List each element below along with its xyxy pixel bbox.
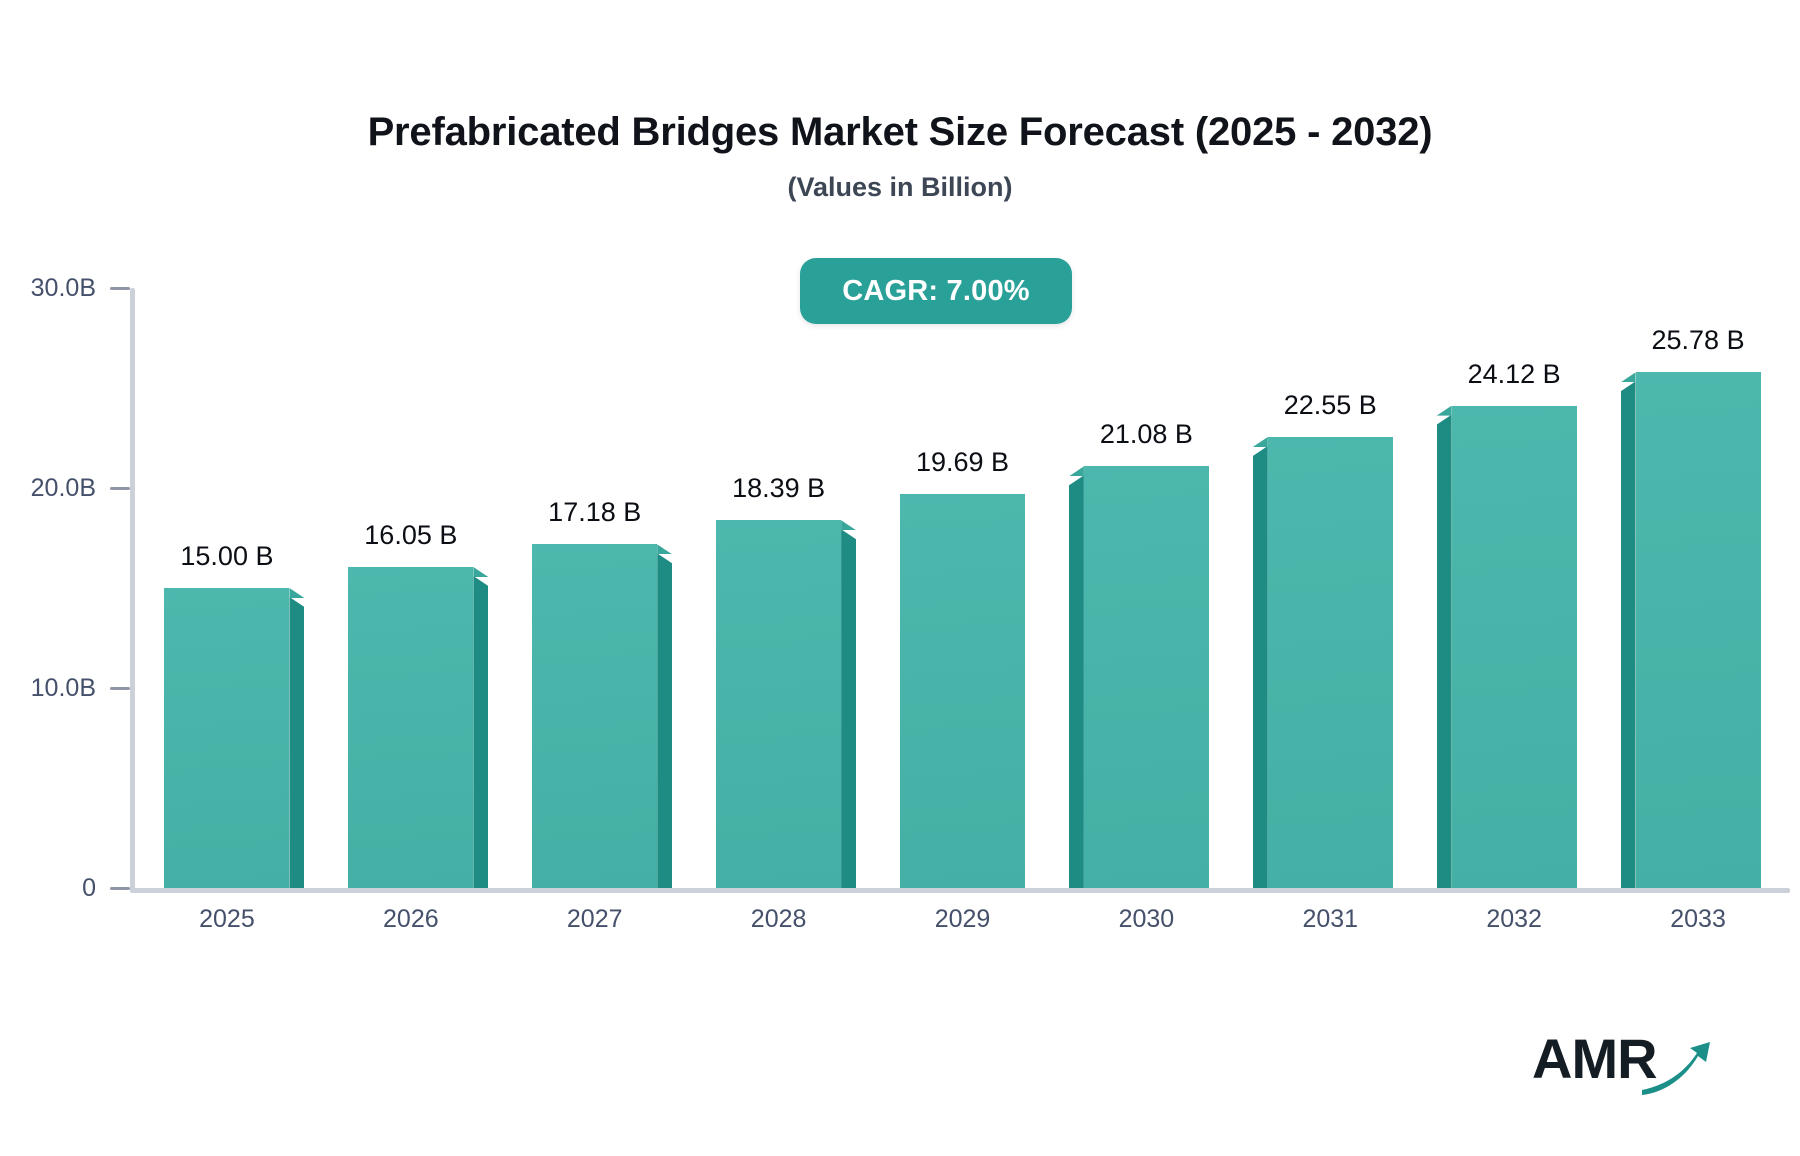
bar-top-face [1437,406,1452,416]
x-axis-label-2026: 2026 [383,905,439,934]
bar-2030[interactable] [1084,466,1209,888]
bar-top-face [657,544,672,554]
trend-up-arrow-icon [1640,1040,1718,1100]
bar-2033[interactable] [1636,372,1761,888]
bar-2028[interactable] [716,520,841,888]
x-axis-line [130,888,1790,893]
bar-value-label: 16.05 B [364,520,457,551]
bar-slot: 19.69 B [900,288,1025,888]
bar-top-face [1069,466,1084,476]
bar-2026[interactable] [348,567,473,888]
bar-value-label: 24.12 B [1468,359,1561,390]
chart-subtitle: (Values in Billion) [0,172,1800,203]
bar-depth-face [1253,446,1268,888]
bar-top-face [841,520,856,530]
x-axis-label-2031: 2031 [1302,905,1358,934]
x-axis-label-2028: 2028 [751,905,807,934]
y-axis-tick-mark [110,487,130,490]
bar-2027[interactable] [532,544,657,888]
y-axis-tick-label: 30.0B [31,274,96,303]
y-axis-tick-label: 0 [82,874,96,903]
y-axis-tick-mark [110,687,130,690]
bar-value-label: 25.78 B [1652,325,1745,356]
bar-value-label: 17.18 B [548,497,641,528]
bar-2029[interactable] [900,494,1025,888]
x-axis-label-2032: 2032 [1486,905,1542,934]
x-axis-label-2025: 2025 [199,905,255,934]
x-axis-labels: 202520262027202820292030203120322033 [130,905,1795,955]
bar-top-face [289,588,304,598]
plot-area: 15.00 B16.05 B17.18 B18.39 B19.69 B21.08… [130,288,1790,893]
y-axis-tick-label: 20.0B [31,474,96,503]
bar-depth-face [1621,381,1636,888]
bar-slot: 24.12 B [1452,288,1577,888]
bar-slot: 21.08 B [1084,288,1209,888]
chart-page: Prefabricated Bridges Market Size Foreca… [0,0,1800,1156]
bar-slot: 25.78 B [1636,288,1761,888]
bar-slot: 16.05 B [348,288,473,888]
bar-depth-face [289,597,304,888]
amr-logo-text: AMR [1532,1030,1657,1088]
x-axis-label-2029: 2029 [935,905,991,934]
bar-slot: 17.18 B [532,288,657,888]
x-axis-label-2027: 2027 [567,905,623,934]
bar-depth-face [657,553,672,888]
bar-top-face [473,567,488,577]
bars-container: 15.00 B16.05 B17.18 B18.39 B19.69 B21.08… [135,288,1790,888]
amr-logo: AMR [1532,1030,1712,1106]
y-axis-tick-label: 10.0B [31,674,96,703]
bar-slot: 22.55 B [1268,288,1393,888]
bar-slot: 15.00 B [164,288,289,888]
bar-2032[interactable] [1452,406,1577,888]
x-axis-label-2030: 2030 [1119,905,1175,934]
bar-depth-face [1437,415,1452,888]
bar-value-label: 19.69 B [916,447,1009,478]
x-axis-label-2033: 2033 [1670,905,1726,934]
bar-value-label: 15.00 B [180,541,273,572]
bar-2031[interactable] [1268,437,1393,888]
bar-top-face [1253,437,1268,447]
chart-title: Prefabricated Bridges Market Size Foreca… [0,110,1800,155]
bar-value-label: 21.08 B [1100,419,1193,450]
y-axis-tick-mark [110,887,130,890]
bar-depth-face [841,529,856,888]
bar-depth-face [1069,475,1084,888]
bar-top-face [1621,372,1636,382]
bar-slot: 18.39 B [716,288,841,888]
bar-value-label: 18.39 B [732,473,825,504]
bar-2025[interactable] [164,588,289,888]
y-axis-tick-mark [110,287,130,290]
bar-depth-face [473,576,488,888]
bar-value-label: 22.55 B [1284,390,1377,421]
